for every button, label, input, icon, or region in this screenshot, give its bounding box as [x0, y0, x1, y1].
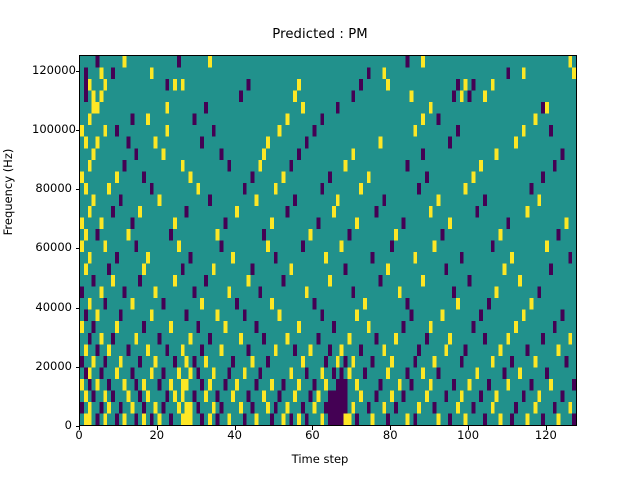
- x-axis-label: Time step: [0, 452, 640, 466]
- y-axis-label: Frequency (Hz): [1, 92, 15, 292]
- matplotlib-figure: Predicted : PM Frequency (Hz) Time step …: [0, 0, 640, 480]
- x-tick-mark: [390, 426, 391, 430]
- x-tick-label: 20: [137, 430, 177, 442]
- y-tick-mark: [76, 189, 80, 190]
- y-tick-mark: [76, 308, 80, 309]
- y-tick-label: 120000: [32, 65, 72, 77]
- y-tick-label: 40000: [32, 302, 72, 314]
- x-tick-label: 80: [370, 430, 410, 442]
- x-tick-mark: [157, 426, 158, 430]
- x-tick-mark: [468, 426, 469, 430]
- x-tick-mark: [546, 426, 547, 430]
- y-tick-label: 80000: [32, 183, 72, 195]
- y-tick-label: 60000: [32, 242, 72, 254]
- y-tick-label: 20000: [32, 361, 72, 373]
- x-tick-label: 0: [59, 430, 99, 442]
- x-tick-label: 60: [292, 430, 332, 442]
- heatmap-axes: [79, 55, 577, 426]
- y-tick-mark: [76, 367, 80, 368]
- x-tick-label: 40: [215, 430, 255, 442]
- page-title: Predicted : PM: [0, 27, 640, 42]
- y-tick-label: 100000: [32, 124, 72, 136]
- y-tick-mark: [76, 71, 80, 72]
- y-tick-mark: [76, 248, 80, 249]
- heatmap-image: [80, 56, 576, 425]
- y-tick-mark: [76, 130, 80, 131]
- x-tick-mark: [79, 426, 80, 430]
- x-tick-label: 120: [526, 430, 566, 442]
- x-tick-mark: [235, 426, 236, 430]
- x-tick-label: 100: [448, 430, 488, 442]
- x-tick-mark: [312, 426, 313, 430]
